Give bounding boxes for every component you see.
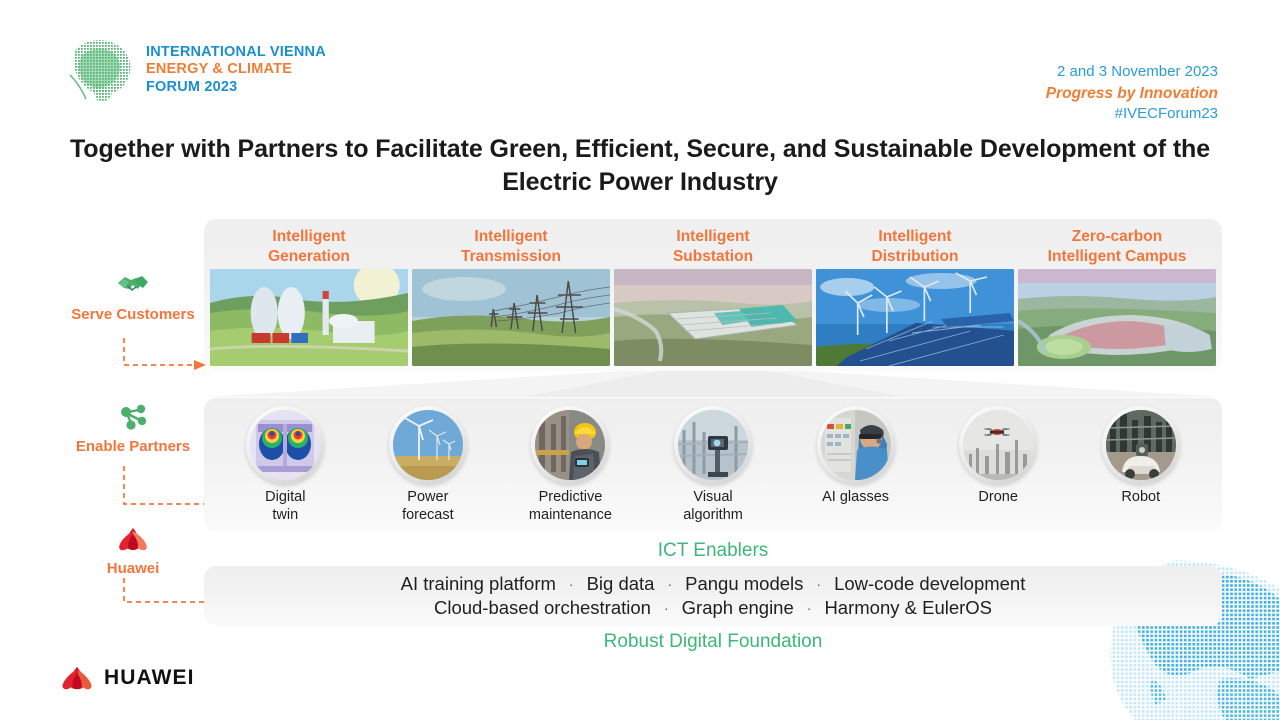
foundation-separator: · [569,576,574,592]
huawei-wordmark: HUAWEI [104,666,195,690]
sidebar-label-huawei: Huawei [48,560,218,577]
enabler-label-line2: algorithm [683,507,743,525]
partners-panel: Digital twin [204,398,1222,532]
foundation-separator: · [807,600,812,616]
enabler-label-line1: AI glasses [822,489,889,507]
category-title-line2: Intelligent Campus [1048,247,1187,267]
foundation-item[interactable]: Pangu models [685,573,803,595]
caption-robust-foundation: Robust Digital Foundation [204,631,1222,653]
enabler-label: AI glasses [822,489,889,507]
foundation-separator: · [667,576,672,592]
enabler-digital-twin[interactable]: Digital twin [214,406,357,526]
header-meta: 2 and 3 November 2023 Progress by Innova… [1046,62,1218,125]
foundation-separator: · [664,600,669,616]
slide-root: INTERNATIONAL VIENNA ENERGY & CLIMATE FO… [0,0,1280,720]
category-title-line2: Transmission [461,247,561,267]
foundation-separator: · [816,576,821,592]
huawei-flower-logo-icon [60,665,94,691]
category-intelligent-substation[interactable]: Intelligent Substation [614,225,812,371]
enabler-robot[interactable]: Robot [1069,406,1212,526]
drone-over-plant-icon [963,410,1033,480]
foundation-item[interactable]: AI training platform [401,573,556,595]
share-network-icon [48,402,218,432]
category-zero-carbon-campus[interactable]: Zero-carbon Intelligent Campus [1018,225,1216,371]
sidebar-item-huawei: Huawei [48,524,218,577]
event-hashtag: #IVECForum23 [1046,104,1218,125]
foundation-panel: AI training platform · Big data · Pangu … [204,566,1222,626]
category-title-line1: Intelligent [673,227,753,247]
photo-substation-aerial [614,269,812,366]
forum-logo: INTERNATIONAL VIENNA ENERGY & CLIMATE FO… [66,33,326,107]
enabler-label: Predictive maintenance [529,489,612,524]
category-title: Intelligent Transmission [461,225,561,269]
enabler-visual-algorithm[interactable]: Visual algorithm [642,406,785,526]
connector-arrow-serve-customers [118,338,213,374]
green-globe-logo-icon [66,33,140,107]
enabler-label-line2: maintenance [529,507,612,525]
foundation-item[interactable]: Harmony & EulerOS [824,597,992,619]
industrial-pipes-camera-icon [678,410,748,480]
event-date: 2 and 3 November 2023 [1046,62,1218,83]
foundation-item[interactable]: Graph engine [682,597,794,619]
logo-line-2: ENERGY & CLIMATE [146,61,326,78]
enabler-label-line1: Visual [683,489,743,507]
wind-turbine-field-icon [393,410,463,480]
category-title-line2: Generation [268,247,350,267]
huawei-logo-icon [48,524,218,554]
page-title: Together with Partners to Facilitate Gre… [60,133,1220,200]
category-title: Intelligent Substation [673,225,753,269]
logo-line-3: FORUM 2023 [146,79,326,96]
event-tagline: Progress by Innovation [1046,83,1218,104]
foundation-item[interactable]: Low-code development [834,573,1025,595]
category-title: Intelligent Generation [268,225,350,269]
category-title-line2: Substation [673,247,753,267]
enabler-label-line1: Robot [1121,489,1160,507]
category-intelligent-transmission[interactable]: Intelligent Transmission [412,225,610,371]
huawei-footer-logo: HUAWEI [60,665,195,691]
enabler-label: Robot [1121,489,1160,507]
category-intelligent-generation[interactable]: Intelligent Generation [210,225,408,371]
category-title-line1: Intelligent [268,227,350,247]
funnel-connector [204,371,1222,399]
enabler-label-line1: Digital [265,489,305,507]
photo-thermal-power-plant [210,269,408,366]
worker-hardhat-inspection-icon [535,410,605,480]
enabler-label: Digital twin [265,489,305,524]
sidebar-item-enable-partners: Enable Partners [48,402,218,455]
sidebar-label-enable-partners: Enable Partners [48,438,218,455]
thermal-simulation-heatmap-icon [250,410,320,480]
inspection-robot-icon [1106,410,1176,480]
enabler-label-line2: twin [265,507,305,525]
foundation-item[interactable]: Cloud-based orchestration [434,597,651,619]
enabler-ai-glasses[interactable]: AI glasses [784,406,927,526]
customers-panel: Intelligent Generation [204,219,1222,371]
enabler-drone[interactable]: Drone [927,406,1070,526]
category-intelligent-distribution[interactable]: Intelligent Distribution [816,225,1014,371]
category-title-line1: Intelligent [872,227,959,247]
foundation-row-2: Cloud-based orchestration · Graph engine… [434,597,992,619]
caption-ict-enablers: ICT Enablers [204,540,1222,562]
handshake-icon [48,270,218,300]
category-title: Intelligent Distribution [872,225,959,269]
enabler-predictive-maintenance[interactable]: Predictive maintenance [499,406,642,526]
enabler-label-line1: Power [402,489,454,507]
enabler-label: Power forecast [402,489,454,524]
photo-solar-and-wind [816,269,1014,366]
logo-line-1: INTERNATIONAL VIENNA [146,44,326,61]
technician-ar-glasses-icon [821,410,891,480]
category-title: Zero-carbon Intelligent Campus [1048,225,1187,269]
enabler-label: Drone [978,489,1018,507]
foundation-row-1: AI training platform · Big data · Pangu … [401,573,1026,595]
photo-green-campus-aerial [1018,269,1216,366]
category-title-line2: Distribution [872,247,959,267]
enabler-label-line1: Drone [978,489,1018,507]
sidebar-label-serve-customers: Serve Customers [48,306,218,323]
sidebar-item-serve-customers: Serve Customers [48,270,218,323]
enabler-label-line1: Predictive [529,489,612,507]
enabler-power-forecast[interactable]: Power forecast [357,406,500,526]
enabler-label: Visual algorithm [683,489,743,524]
category-title-line1: Intelligent [461,227,561,247]
enabler-label-line2: forecast [402,507,454,525]
foundation-item[interactable]: Big data [587,573,655,595]
photo-transmission-towers [412,269,610,366]
category-title-line1: Zero-carbon [1048,227,1187,247]
